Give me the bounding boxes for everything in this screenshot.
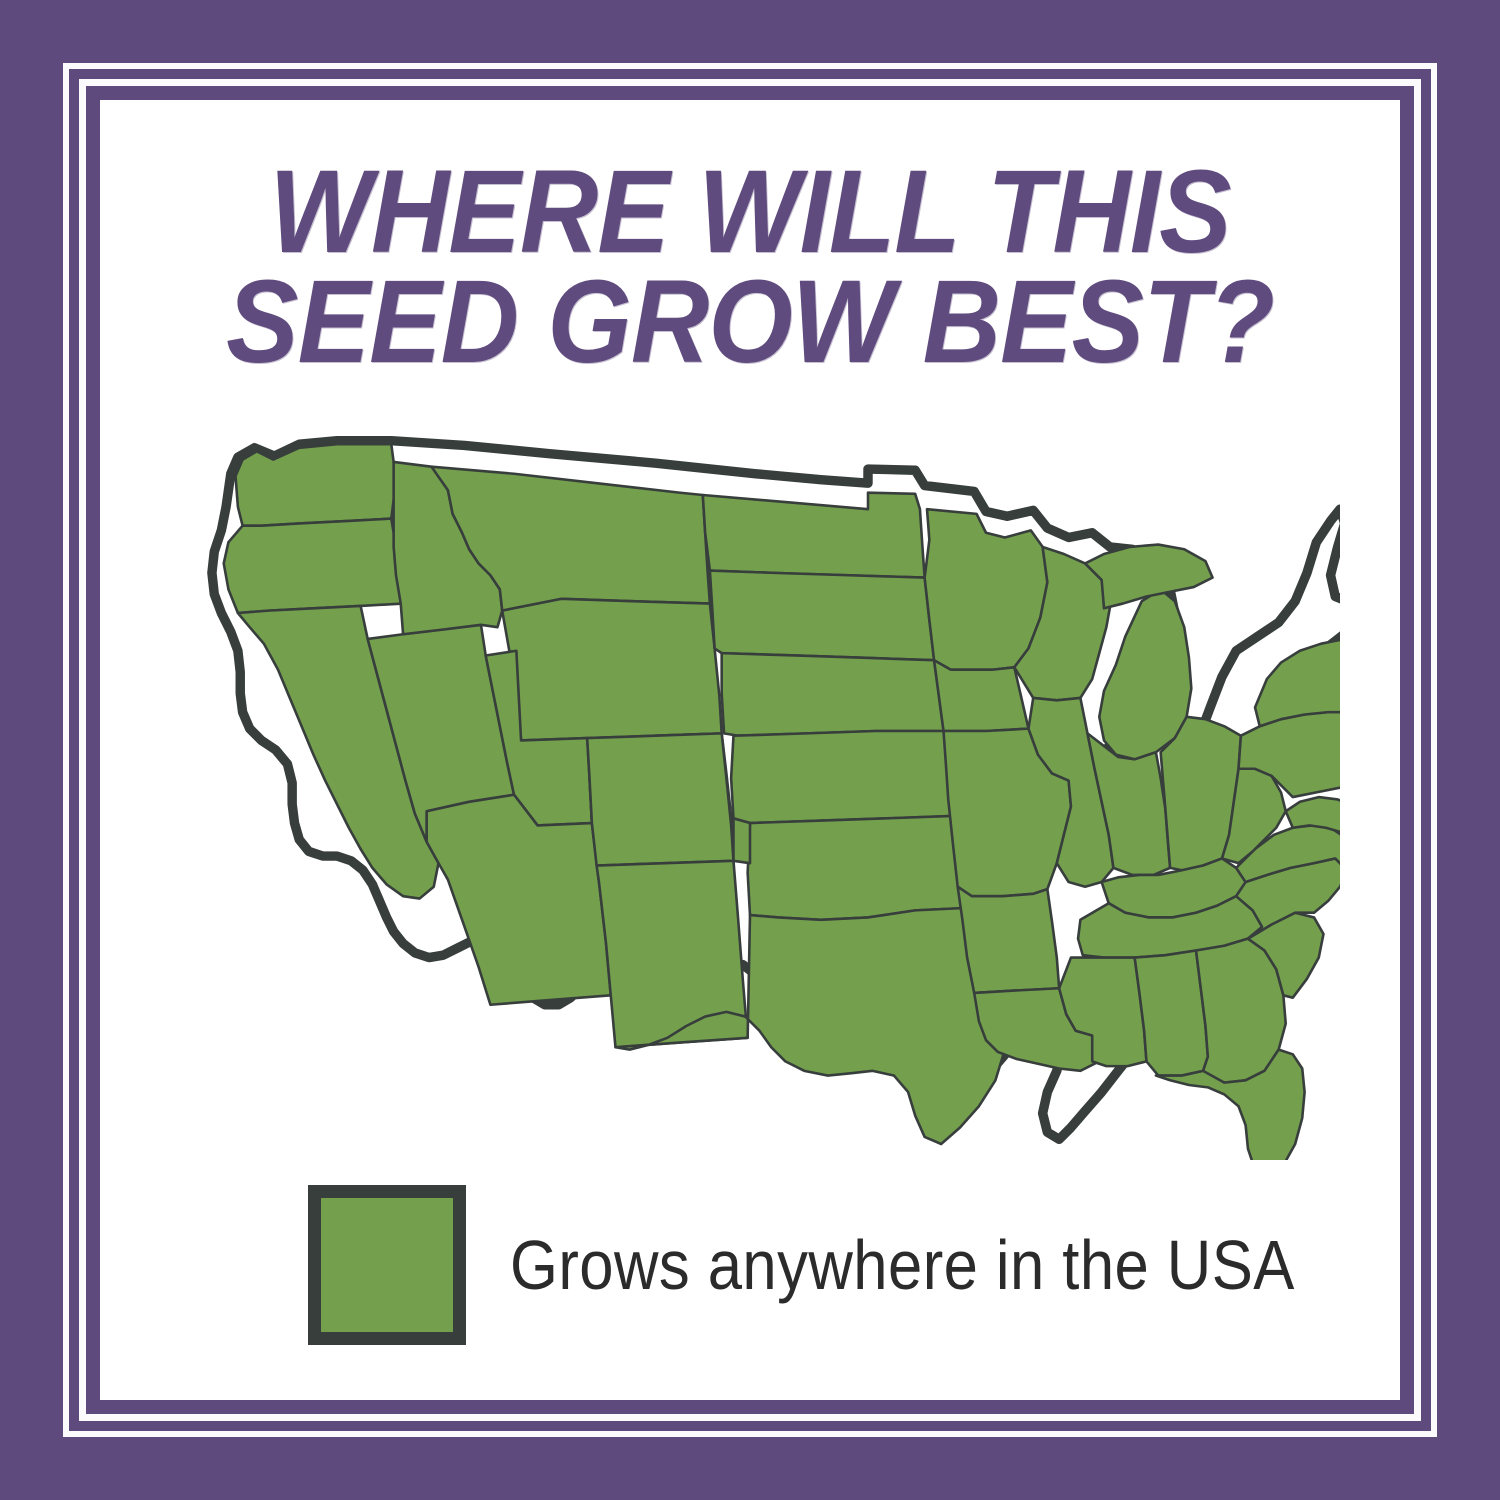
state-oklahoma <box>748 816 965 920</box>
content-area: WHERE WILL THIS SEED GROW BEST? <box>100 100 1400 1400</box>
state-south-dakota <box>710 571 934 661</box>
title-line-2: SEED GROW BEST? <box>152 268 1348 378</box>
legend-color-swatch <box>308 1185 466 1345</box>
state-washington <box>236 444 396 525</box>
state-arizona <box>427 795 611 1005</box>
us-map-container <box>160 420 1340 1160</box>
state-arkansas <box>958 887 1059 993</box>
poster-canvas: WHERE WILL THIS SEED GROW BEST? <box>0 0 1500 1500</box>
state-alabama <box>1135 950 1208 1075</box>
page-title: WHERE WILL THIS SEED GROW BEST? <box>100 158 1400 377</box>
state-oklahoma-panhandle <box>733 818 750 863</box>
state-iowa <box>934 660 1028 731</box>
state-colorado-body <box>587 733 733 865</box>
state-wyoming <box>502 599 721 741</box>
state-oregon <box>224 519 403 613</box>
state-nebraska <box>722 653 944 736</box>
state-north-dakota <box>703 493 925 578</box>
states-group <box>224 444 1340 1160</box>
state-kansas <box>731 731 953 823</box>
state-maryland <box>1286 797 1340 832</box>
map-legend: Grows anywhere in the USA <box>308 1185 1400 1345</box>
state-new-york <box>1255 637 1340 727</box>
legend-label: Grows anywhere in the USA <box>510 1225 1295 1305</box>
united-states-map <box>160 420 1340 1160</box>
title-line-1: WHERE WILL THIS <box>152 158 1348 268</box>
